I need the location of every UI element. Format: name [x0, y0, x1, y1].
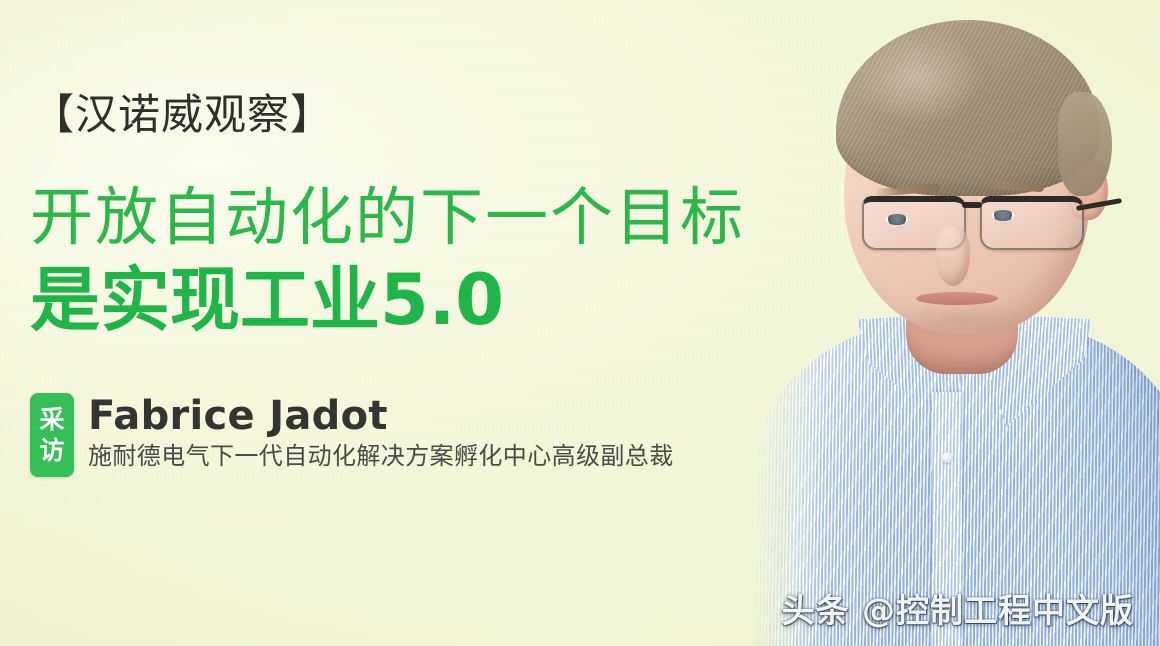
- byline: 采 访 Fabrice Jadot 施耐德电气下一代自动化解决方案孵化中心高级副…: [30, 393, 674, 477]
- kicker-label: 【汉诺威观察】: [32, 94, 333, 136]
- person-job-title: 施耐德电气下一代自动化解决方案孵化中心高级副总裁: [88, 443, 674, 471]
- person-name: Fabrice Jadot: [88, 395, 674, 437]
- hair-side: [1058, 92, 1112, 196]
- interview-badge-char-bottom: 访: [39, 435, 64, 466]
- eyeglasses: [858, 192, 1108, 250]
- eyeglass-bridge: [962, 202, 982, 208]
- mouth: [916, 292, 998, 305]
- interview-badge: 采 访: [30, 393, 74, 477]
- shirt-button: [942, 452, 953, 463]
- headline-line-1: 开放自动化的下一个目标: [30, 186, 745, 249]
- article-cover-image: 【汉诺威观察】 开放自动化的下一个目标 是实现工业5.0 采 访 Fabrice…: [0, 0, 1160, 646]
- portrait-photo: [740, 0, 1160, 646]
- headline-line-2: 是实现工业5.0: [30, 265, 504, 335]
- interview-badge-char-top: 采: [39, 404, 64, 435]
- byline-text-block: Fabrice Jadot 施耐德电气下一代自动化解决方案孵化中心高级副总裁: [88, 393, 674, 471]
- portrait-fade-mask: [740, 0, 1160, 646]
- eyeglass-lens-right: [980, 196, 1084, 250]
- eyeglass-temple: [1076, 198, 1122, 211]
- nose: [936, 226, 970, 286]
- chin-shadow: [890, 300, 1030, 344]
- watermark: 头条 @控制工程中文版: [782, 584, 1135, 632]
